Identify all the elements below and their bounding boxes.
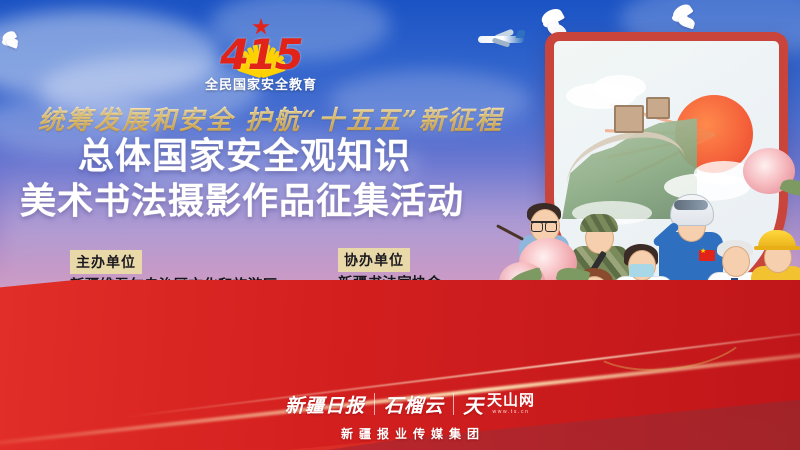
- shiliuyun-logo: 石榴云: [384, 391, 444, 418]
- face-mask-icon: [629, 264, 654, 277]
- logo-subtitle: 全民国家安全教育: [186, 74, 336, 93]
- title-line-1: 总体国家安全观知识: [20, 135, 540, 179]
- hard-hat-icon: [758, 230, 796, 250]
- xinjiang-daily-logo: 新疆日报: [285, 391, 365, 418]
- national-security-education-day-logo: 415 全民国家安全教育: [186, 8, 336, 94]
- poster-subtitle: 统筹发展和安全 护航“十五五”新征程: [38, 100, 508, 137]
- divider: [374, 393, 375, 415]
- co-organizer-label: 协办单位: [338, 248, 410, 272]
- logo-number: 415: [186, 34, 336, 76]
- tianshanwang-url: www.ts.cn: [493, 410, 530, 415]
- divider: [453, 393, 454, 415]
- tianshanwang-name: 天山网: [487, 393, 535, 408]
- media-group-name: 新疆报业传媒集团: [270, 425, 550, 442]
- host-organizer-label: 主办单位: [70, 250, 142, 274]
- title-line-2: 美术书法摄影作品征集活动: [20, 179, 540, 225]
- poster-canvas: 415 全民国家安全教育 统筹发展和安全 护航“十五五”新征程 总体国家安全观知…: [0, 0, 800, 450]
- page-title: 总体国家安全观知识 美术书法摄影作品征集活动: [20, 135, 540, 225]
- tianshanwang-logo: 天 天山网 www.ts.cn: [463, 390, 535, 419]
- footer-logos: 新疆日报 石榴云 天 天山网 www.ts.cn 新疆报业传媒集团: [270, 387, 550, 442]
- tianshan-mark-icon: 天: [463, 390, 483, 419]
